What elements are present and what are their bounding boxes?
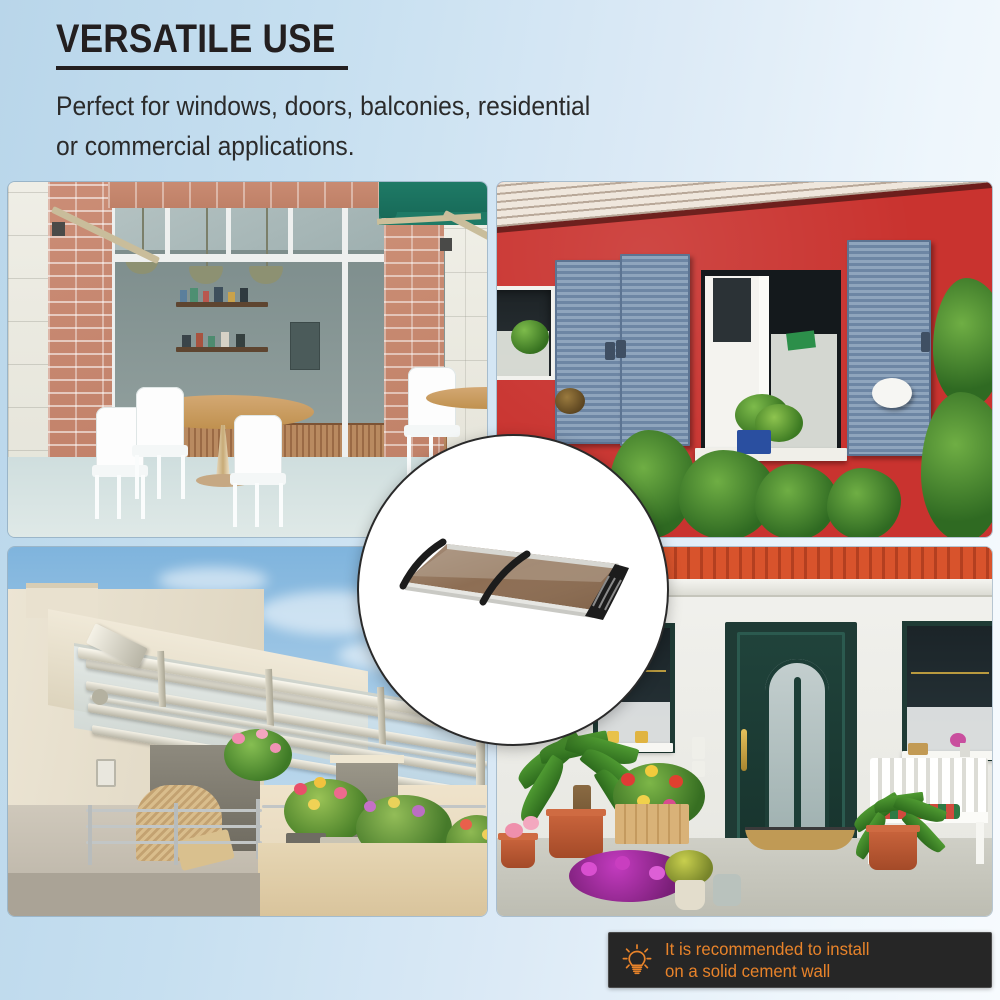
product-inset-circle[interactable] (357, 434, 669, 746)
note-line-1: It is recommended to install (665, 938, 869, 960)
installation-note-text: It is recommended to install on a solid … (665, 938, 878, 983)
subtitle-line-1: Perfect for windows, doors, balconies, r… (56, 87, 874, 125)
lightbulb-icon (609, 943, 665, 977)
header-block: VERSATILE USE Perfect for windows, doors… (56, 18, 936, 166)
door-canopy-awning-illustration (387, 524, 639, 634)
note-line-2: on a solid cement wall (665, 960, 869, 982)
page-title: VERSATILE USE (56, 18, 830, 60)
subtitle-line-2: or commercial applications. (56, 127, 874, 165)
title-underline (56, 66, 348, 70)
installation-note-banner: It is recommended to install on a solid … (608, 932, 992, 988)
